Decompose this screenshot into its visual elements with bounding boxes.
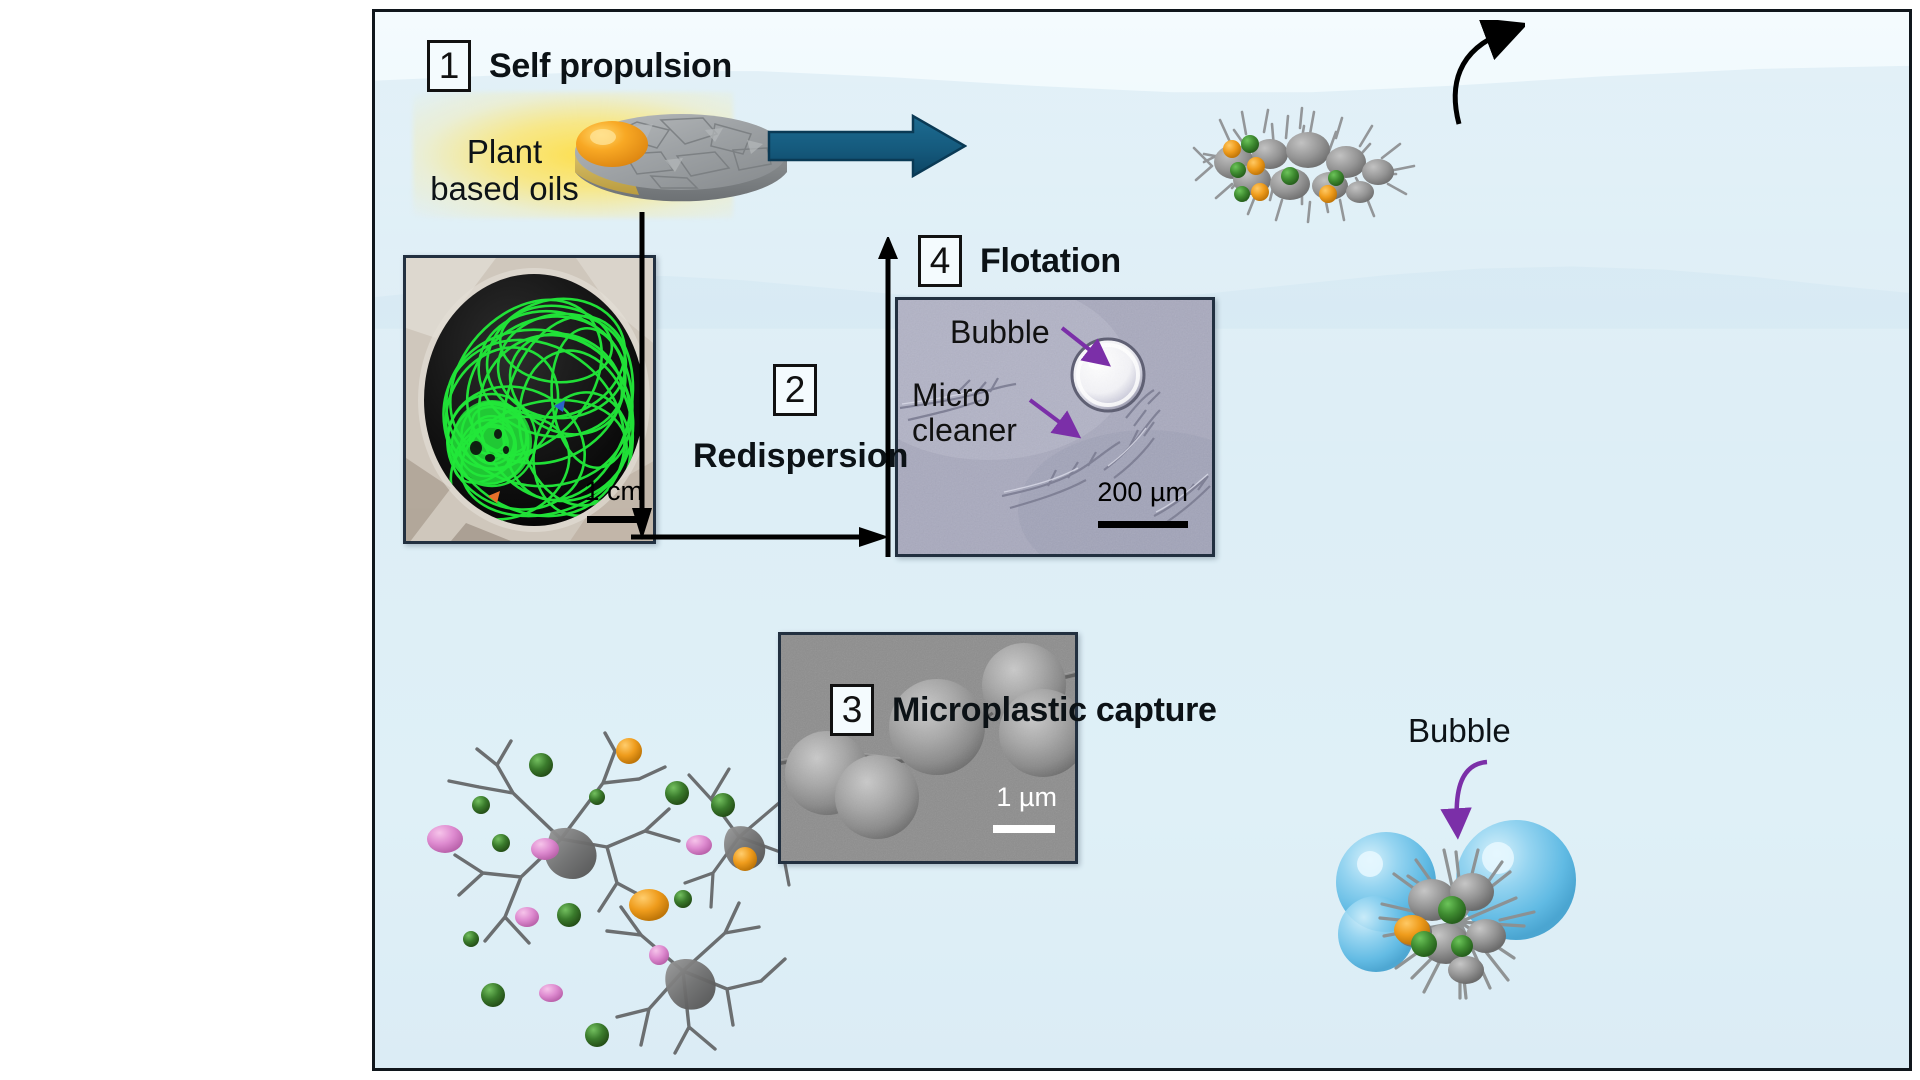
step-3-title: Microplastic capture (892, 691, 1217, 730)
optical-scale-line (1098, 521, 1188, 528)
micro-cleaner-label: Micro cleaner (912, 378, 1017, 448)
step-4-header: 4 Flotation (918, 235, 1121, 287)
step-3-header: 3 Microplastic capture (830, 684, 1217, 736)
figure-frame: 1 Self propulsion Plant based oils (372, 9, 1912, 1071)
right-arrow-icon (631, 524, 891, 550)
micro-cleaner-pointer-icon (1030, 400, 1070, 430)
step-4-number: 4 (918, 235, 962, 287)
plant-based-oils-label: Plant based oils (397, 134, 612, 208)
step-2-header: 2 (773, 364, 817, 416)
up-arrow-icon (875, 237, 901, 557)
sem-scale-line (993, 825, 1055, 833)
petri-dish-photo: 1 cm (403, 255, 656, 544)
propulsion-arrow-icon (767, 112, 967, 182)
down-arrow-icon (629, 212, 655, 542)
step-2-title: Redispersion (693, 437, 908, 476)
step-1-header: 1 Self propulsion (427, 40, 732, 92)
optical-scale-text: 200 µm (1097, 477, 1188, 508)
step-2-number: 2 (773, 364, 817, 416)
bubble-micrograph-label: Bubble (950, 314, 1050, 351)
redispersed-cleaners-illustration (393, 727, 813, 1057)
bubble-schematic-label: Bubble (1408, 712, 1511, 750)
step-4-title: Flotation (980, 242, 1121, 281)
sem-scale-text: 1 µm (996, 782, 1057, 813)
sem-micrograph-photo: 1 µm (778, 632, 1078, 864)
step-1-title: Self propulsion (489, 47, 732, 86)
bubble-pointer-icon (1062, 328, 1100, 358)
escape-arrow-icon (1405, 20, 1525, 130)
bubble-schematic-pointer-icon (1457, 762, 1487, 824)
figure-canvas: 1 Self propulsion Plant based oils (0, 0, 1920, 1080)
optical-micrograph-photo: Bubble Micro cleaner (895, 297, 1215, 557)
step-1-number: 1 (427, 40, 471, 92)
step-3-number: 3 (830, 684, 874, 736)
surface-cleaner-cluster (1190, 104, 1425, 224)
